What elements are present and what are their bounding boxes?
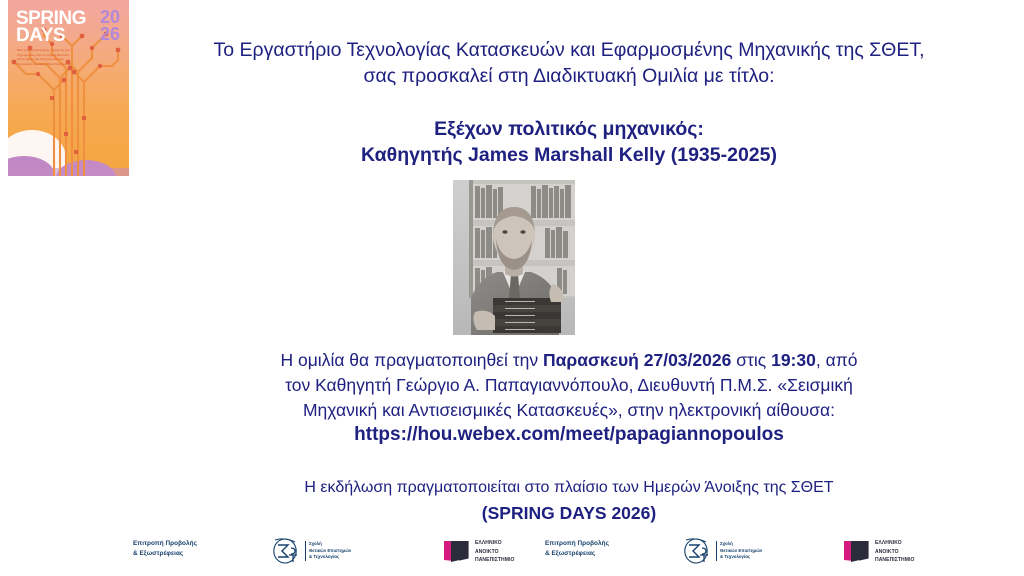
poster-circuit-tree-graphic: [8, 24, 129, 176]
sigma-theta-epsilon-tau-mark-icon: [683, 538, 711, 564]
poster-title: SPRING DAYS: [16, 10, 86, 45]
details-seg2: στις: [731, 350, 771, 370]
open-book-mark-icon: [443, 539, 470, 564]
school-logo-1: Σχολή Θετικών Επιστημών & Τεχνολογίας: [272, 538, 351, 564]
event-framing-note: Η εκδήλωση πραγματοποιείται στο πλαίσιο …: [129, 476, 1009, 526]
committee-logo-1: Επιτροπή Προβολής & Εξωστρέφειας: [133, 539, 197, 558]
event-details: Η ομιλία θα πραγματοποιηθεί την Παρασκευ…: [129, 348, 1009, 423]
sigma-theta-epsilon-tau-mark-icon: [272, 538, 300, 564]
school-logo-2: Σχολή Θετικών Επιστημών & Τεχνολογίας: [683, 538, 762, 564]
committee-logo-2: Επιτροπή Προβολής & Εξωστρέφειας: [545, 539, 609, 558]
poster-title-line2: DAYS: [16, 27, 86, 44]
school-label-1: Σχολή Θετικών Επιστημών & Τεχνολογίας: [305, 541, 351, 561]
university-label-2: ΕΛΛΗΝΙΚΟ ΑΝΟΙΚΤΟ ΠΑΝΕΠΙΣΤΗΜΙΟ: [875, 539, 914, 565]
details-seg3: , από: [816, 350, 858, 370]
invitation-intro-line2: σας προσκαλεί στη Διαδικτυακή Ομιλία με …: [129, 64, 1009, 90]
footer-logo-bar: Επιτροπή Προβολής & Εξωστρέφειας Σχολή Θ…: [0, 530, 1024, 576]
event-date: Παρασκευή 27/03/2026: [543, 350, 731, 370]
event-framing-line2: (SPRING DAYS 2026): [129, 500, 1009, 526]
webex-meeting-link[interactable]: https://hou.webex.com/meet/papagiannopou…: [129, 424, 1009, 446]
open-book-mark-icon: [843, 539, 870, 564]
university-logo-1: ΕΛΛΗΝΙΚΟ ΑΝΟΙΚΤΟ ΠΑΝΕΠΙΣΤΗΜΙΟ: [443, 539, 514, 565]
portrait-photo-graphic: [453, 180, 575, 335]
committee-label-1: Επιτροπή Προβολής & Εξωστρέφειας: [133, 539, 197, 558]
speaker-portrait-photo: [453, 180, 575, 335]
event-time: 19:30: [771, 350, 816, 370]
poster-year: 20 26: [100, 9, 120, 43]
details-seg1: Η ομιλία θα πραγματοποιηθεί την: [280, 350, 543, 370]
invitation-intro: Το Εργαστήριο Τεχνολογίας Κατασκευών και…: [129, 38, 1009, 89]
poster-year-line2: 26: [100, 26, 120, 43]
poster-artwork: SPRING DAYS 20 26 Μια γιορτή Επιστήμης, …: [8, 0, 129, 176]
invitation-intro-line1: Το Εργαστήριο Τεχνολογίας Κατασκευών και…: [129, 38, 1009, 64]
talk-title-line1: Εξέχων πολιτικός μηχανικός:: [129, 116, 1009, 142]
school-label-2: Σχολή Θετικών Επιστημών & Τεχνολογίας: [716, 541, 762, 561]
poster-blurb-text: Μια γιορτή Επιστήμης, Έρευνας και Τεχνολ…: [17, 48, 79, 67]
event-details-line2: τον Καθηγητή Γεώργιο Α. Παπαγιαννόπουλο,…: [129, 373, 1009, 398]
spring-days-poster: SPRING DAYS 20 26 Μια γιορτή Επιστήμης, …: [8, 0, 129, 176]
university-logo-2: ΕΛΛΗΝΙΚΟ ΑΝΟΙΚΤΟ ΠΑΝΕΠΙΣΤΗΜΙΟ: [843, 539, 914, 565]
university-label-1: ΕΛΛΗΝΙΚΟ ΑΝΟΙΚΤΟ ΠΑΝΕΠΙΣΤΗΜΙΟ: [475, 539, 514, 565]
event-details-line1: Η ομιλία θα πραγματοποιηθεί την Παρασκευ…: [129, 348, 1009, 373]
event-framing-line1: Η εκδήλωση πραγματοποιείται στο πλαίσιο …: [129, 476, 1009, 500]
committee-label-2: Επιτροπή Προβολής & Εξωστρέφειας: [545, 539, 609, 558]
event-details-line3: Μηχανική και Αντισεισμικές Κατασκευές», …: [129, 398, 1009, 423]
talk-title: Εξέχων πολιτικός μηχανικός: Καθηγητής Ja…: [129, 116, 1009, 168]
talk-title-line2: Καθηγητής James Marshall Kelly (1935-202…: [129, 142, 1009, 168]
